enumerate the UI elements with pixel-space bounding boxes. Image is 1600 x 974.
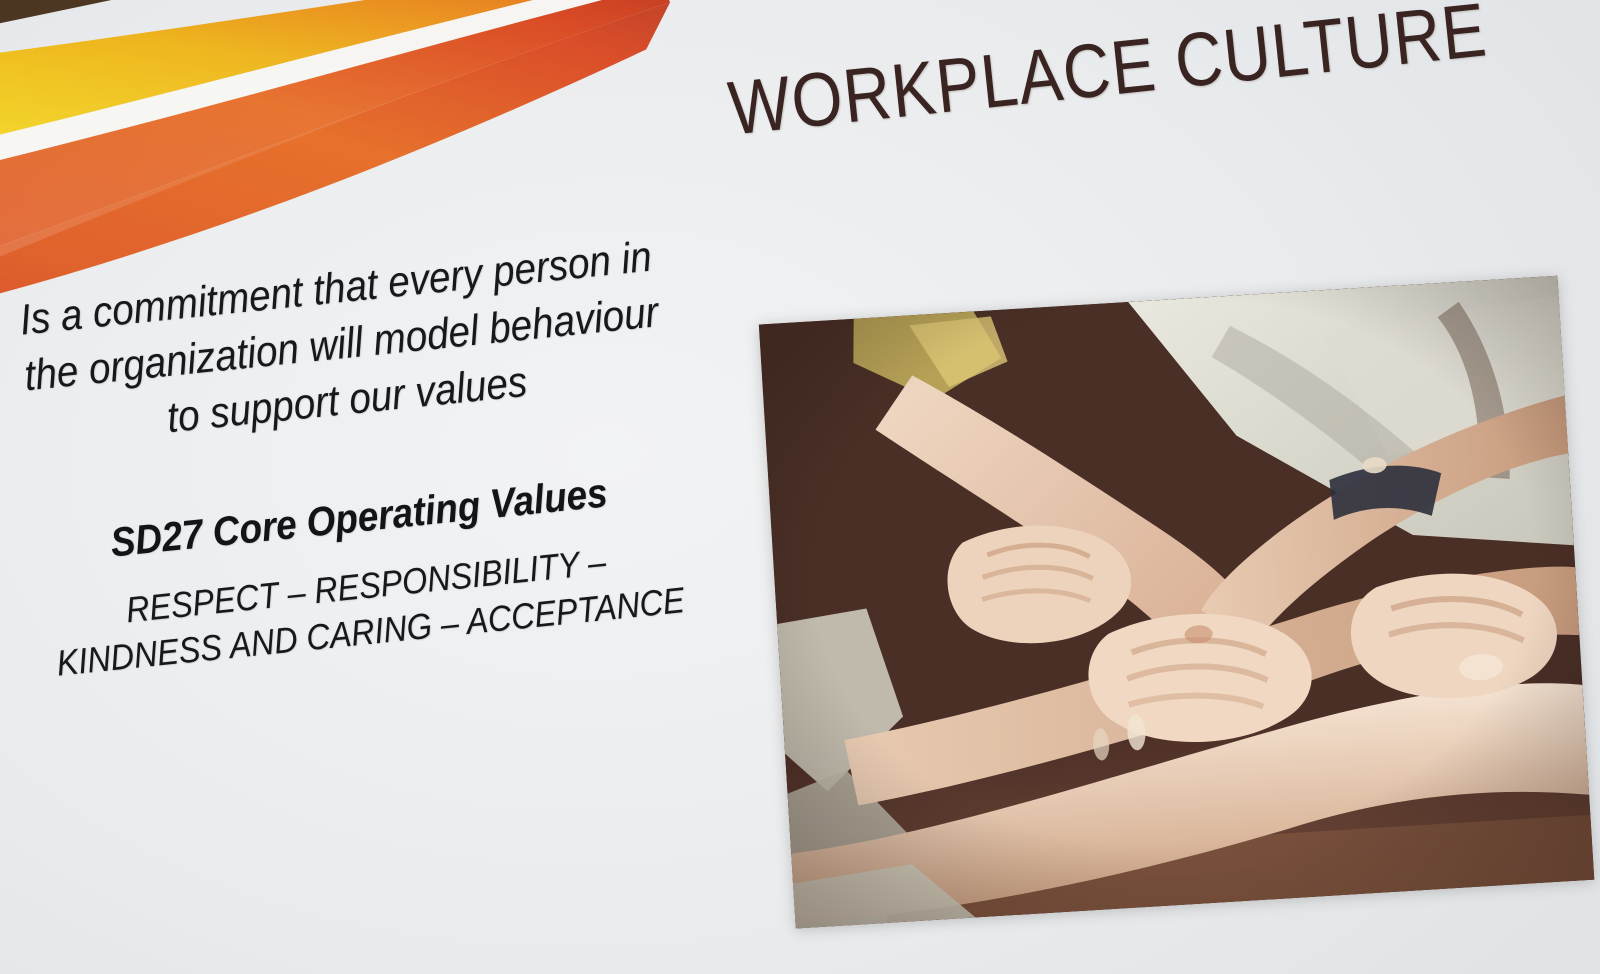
projected-slide: WORKPLACE CULTURE Is a commitment that e… [0,0,1600,974]
teamwork-hands-photo-image [759,276,1594,929]
left-text-column: Is a commitment that every person in the… [0,225,731,692]
slide-photo-screenshot: WORKPLACE CULTURE Is a commitment that e… [0,0,1600,974]
slide-title: WORKPLACE CULTURE [725,0,1491,152]
lead-statement: Is a commitment that every person in the… [11,229,673,461]
teamwork-hands-photo [759,276,1594,929]
